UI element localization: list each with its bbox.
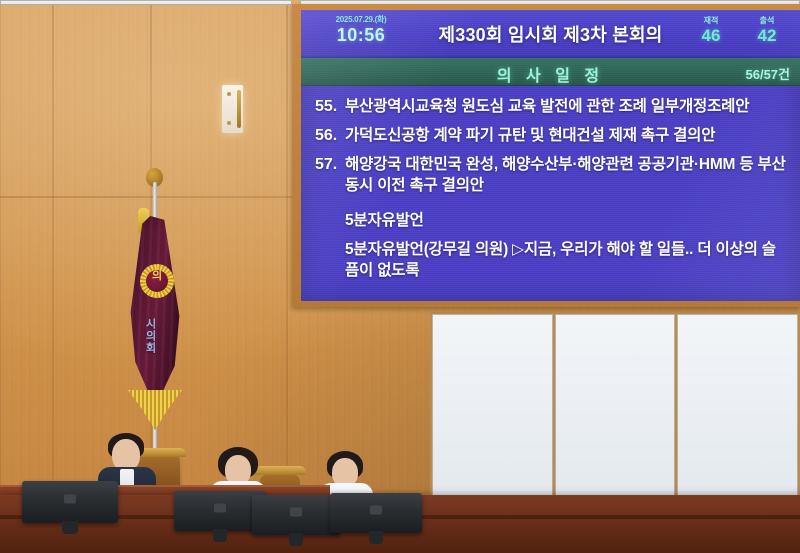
speech-item: 5분자유발언	[345, 210, 786, 231]
wall-sconce-light-icon	[222, 85, 243, 133]
monitor-stand-clamp	[214, 503, 226, 512]
agenda-bar: 의 사 일 정 56/57건	[301, 58, 800, 86]
sconce-screw	[227, 121, 231, 125]
screen-header: 2025.07.29.(화) 10:56 제330회 임시회 제3차 본회의 재…	[301, 10, 800, 58]
assembly-desk-area	[0, 433, 800, 553]
registered-count: 46	[682, 26, 740, 45]
sconce-fixture-bar	[237, 90, 241, 128]
present-label: 출석	[738, 15, 796, 26]
flag-vertical-text: 시의회	[142, 318, 158, 354]
agenda-item-number: 55.	[315, 96, 345, 117]
agenda-item: 55. 부산광역시교육청 원도심 교육 발전에 관한 조례 일부개정조례안	[315, 96, 786, 117]
agenda-item: 56. 가덕도신공항 계약 파기 규탄 및 현대건설 제재 촉구 결의안	[315, 125, 786, 146]
flag-fringe	[128, 390, 182, 430]
assembly-display-screen: 2025.07.29.(화) 10:56 제330회 임시회 제3차 본회의 재…	[301, 10, 800, 301]
monitor-stand-clamp	[370, 505, 382, 514]
wall-panel-group-left	[0, 0, 292, 5]
agenda-list: 55. 부산광역시교육청 원도심 교육 발전에 관한 조례 일부개정조례안 56…	[301, 86, 800, 281]
sconce-screw	[227, 92, 231, 96]
wall-panel	[0, 0, 292, 5]
desk-monitor	[330, 493, 422, 533]
emblem-mark: 의	[140, 271, 174, 282]
agenda-item-text: 가덕도신공항 계약 파기 규탄 및 현대건설 제재 촉구 결의안	[345, 125, 786, 146]
monitor-stand-clamp	[290, 507, 302, 516]
desk-monitor	[22, 481, 118, 523]
registered-count-block: 재적 46	[682, 15, 740, 45]
present-count: 42	[738, 26, 796, 45]
desk-monitor	[252, 495, 340, 535]
registered-label: 재적	[682, 15, 740, 26]
agenda-item: 57. 해양강국 대한민국 완성, 해양수산부·해양관련 공공기관·HMM 등 …	[315, 154, 786, 196]
flag-cloth-folds	[126, 216, 184, 408]
meeting-hall-scene: 2025.07.29.(화) 10:56 제330회 임시회 제3차 본회의 재…	[0, 0, 800, 553]
agenda-item-number: 56.	[315, 125, 345, 146]
agenda-item-number: 57.	[315, 154, 345, 175]
flag-emblem-icon: 의	[140, 264, 174, 298]
agenda-bar-title: 의 사 일 정	[301, 62, 800, 86]
agenda-item-text: 부산광역시교육청 원도심 교육 발전에 관한 조례 일부개정조례안	[345, 96, 786, 117]
flag-cloth	[126, 216, 184, 408]
speech-item: 5분자유발언(강무길 의원) ▷지금, 우리가 해야 할 일들.. 더 이상의 …	[345, 239, 786, 281]
present-count-block: 출석 42	[738, 15, 796, 45]
agenda-bar-counter: 56/57건	[746, 64, 791, 83]
agenda-item-text: 해양강국 대한민국 완성, 해양수산부·해양관련 공공기관·HMM 등 부산 동…	[345, 154, 786, 196]
monitor-stand-clamp	[64, 494, 76, 503]
ceremonial-flag: 의 시의회	[116, 168, 190, 468]
